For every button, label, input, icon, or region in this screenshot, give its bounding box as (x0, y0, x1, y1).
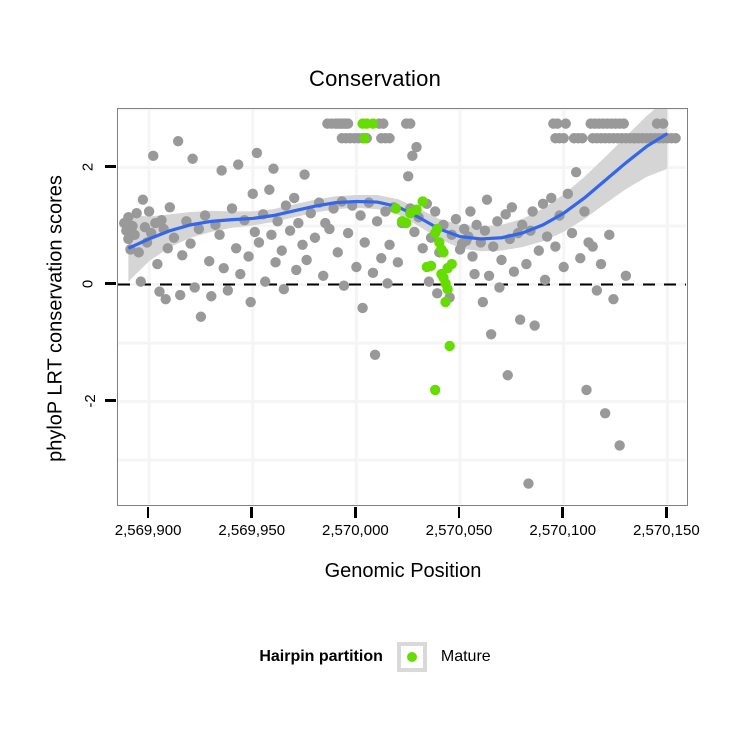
x-tick-label: 2,569,950 (218, 522, 285, 539)
y-tick-mark (105, 282, 116, 285)
x-tick-label: 2,570,100 (529, 522, 596, 539)
plot-panel (117, 108, 688, 506)
page-title: Conservation (0, 66, 750, 92)
y-axis-title: phyloP LRT conservation scores (45, 109, 68, 529)
legend-marker-icon (407, 652, 417, 662)
y-tick-mark (105, 165, 116, 168)
y-tick-label: 2 (80, 162, 97, 170)
x-tick-mark (458, 507, 461, 518)
x-tick-label: 2,570,150 (633, 522, 700, 539)
x-tick-label: 2,570,050 (426, 522, 493, 539)
x-tick-mark (665, 507, 668, 518)
x-axis-title: Genomic Position (117, 560, 689, 583)
x-tick-mark (561, 507, 564, 518)
y-tick-label: -2 (82, 394, 99, 407)
plot-area (118, 109, 686, 504)
x-tick-mark (354, 507, 357, 518)
legend-label-mature: Mature (441, 648, 491, 666)
x-tick-mark (147, 507, 150, 518)
legend: Hairpin partition Mature (0, 642, 750, 672)
x-tick-label: 2,570,000 (322, 522, 389, 539)
y-tick-label: 0 (80, 279, 97, 287)
x-tick-mark (250, 507, 253, 518)
y-tick-mark (105, 399, 116, 402)
x-tick-label: 2,569,900 (115, 522, 182, 539)
conservation-scatter-figure: Conservation phyloP LRT conservation sco… (0, 0, 750, 750)
legend-key-mature[interactable] (397, 642, 427, 672)
legend-title: Hairpin partition (259, 648, 383, 666)
